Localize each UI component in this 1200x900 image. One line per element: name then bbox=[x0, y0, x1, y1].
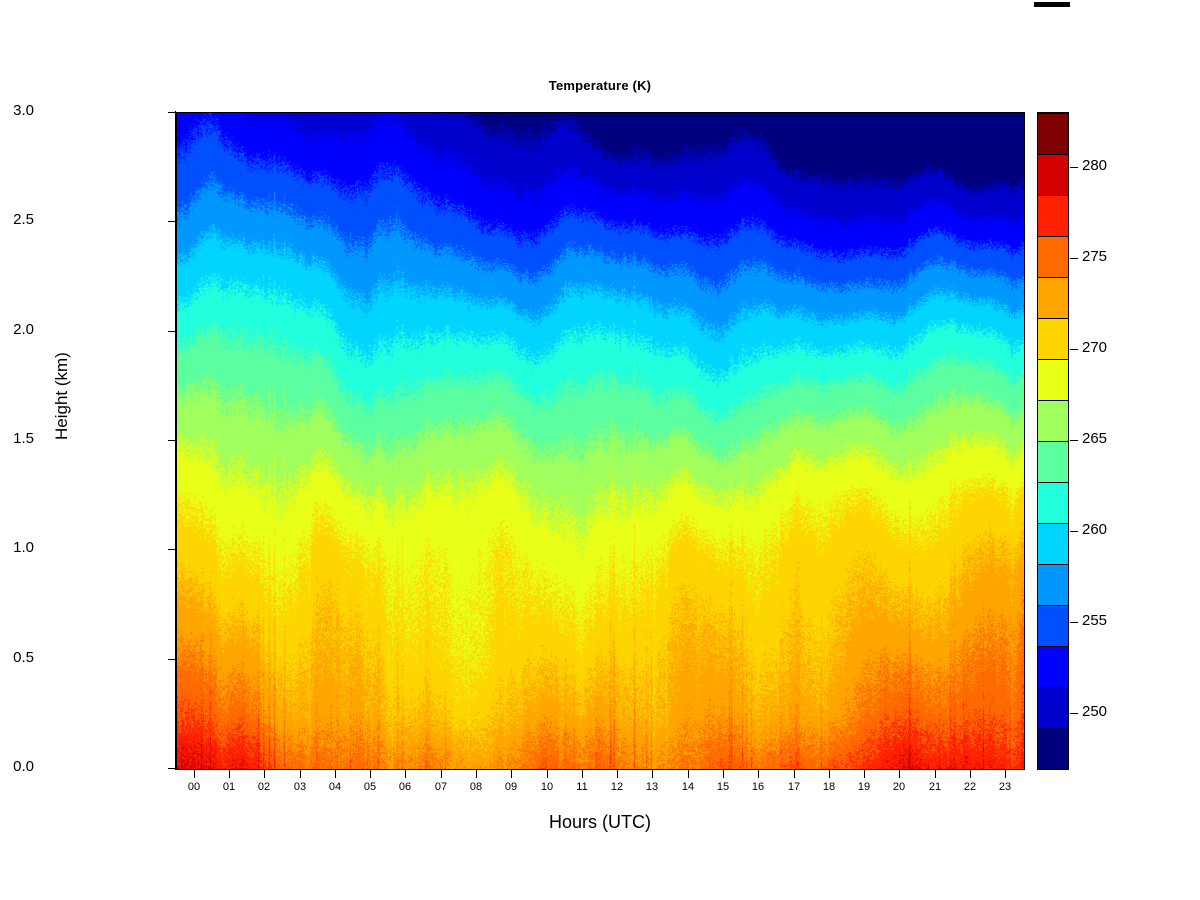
x-tick-label: 20 bbox=[879, 781, 919, 793]
colorbar-block bbox=[1038, 400, 1068, 441]
x-tick-mark bbox=[441, 770, 442, 778]
x-tick-mark bbox=[1005, 770, 1006, 778]
x-tick-label: 21 bbox=[915, 781, 955, 793]
colorbar-block bbox=[1038, 318, 1068, 359]
colorbar-block bbox=[1038, 236, 1068, 277]
colorbar-block bbox=[1038, 687, 1068, 728]
x-tick-label: 00 bbox=[174, 781, 214, 793]
x-tick-mark bbox=[476, 770, 477, 778]
x-tick-mark bbox=[652, 770, 653, 778]
x-tick-mark bbox=[335, 770, 336, 778]
colorbar-block bbox=[1038, 482, 1068, 523]
x-tick-label: 02 bbox=[244, 781, 284, 793]
y-tick-mark bbox=[168, 331, 176, 332]
x-tick-mark bbox=[405, 770, 406, 778]
x-tick-label: 04 bbox=[315, 781, 355, 793]
y-tick-label: 3.0 bbox=[13, 102, 34, 119]
figure-canvas: Temperature (K) 0.00.51.01.52.02.53.0 00… bbox=[0, 0, 1200, 900]
y-tick-label: 0.5 bbox=[13, 649, 34, 666]
x-tick-mark bbox=[688, 770, 689, 778]
y-tick-mark bbox=[168, 549, 176, 550]
colorbar-tick-label: 265 bbox=[1082, 430, 1107, 447]
x-tick-mark bbox=[194, 770, 195, 778]
plot-title: Temperature (K) bbox=[0, 78, 1200, 93]
colorbar-tick-mark bbox=[1070, 258, 1078, 259]
x-tick-mark bbox=[829, 770, 830, 778]
colorbar-block bbox=[1038, 154, 1068, 195]
x-tick-mark bbox=[511, 770, 512, 778]
x-tick-mark bbox=[617, 770, 618, 778]
x-tick-label: 14 bbox=[668, 781, 708, 793]
plot-area bbox=[176, 112, 1025, 770]
colorbar-block bbox=[1038, 359, 1068, 400]
colorbar-block bbox=[1038, 113, 1068, 154]
colorbar-tick-mark bbox=[1070, 167, 1078, 168]
x-tick-label: 10 bbox=[527, 781, 567, 793]
x-tick-label: 09 bbox=[491, 781, 531, 793]
x-tick-label: 07 bbox=[421, 781, 461, 793]
colorbar-block bbox=[1038, 523, 1068, 564]
x-tick-label: 03 bbox=[280, 781, 320, 793]
colorbar-block bbox=[1038, 441, 1068, 482]
x-tick-label: 16 bbox=[738, 781, 778, 793]
x-tick-mark bbox=[935, 770, 936, 778]
x-tick-label: 08 bbox=[456, 781, 496, 793]
y-tick-label: 1.5 bbox=[13, 430, 34, 447]
colorbar-tick-label: 275 bbox=[1082, 248, 1107, 265]
colorbar-tick-mark bbox=[1070, 531, 1078, 532]
colorbar-block bbox=[1038, 277, 1068, 318]
y-tick-mark bbox=[168, 768, 176, 769]
y-tick-label: 1.0 bbox=[13, 539, 34, 556]
colorbar-tick-mark bbox=[1070, 713, 1078, 714]
x-tick-mark bbox=[300, 770, 301, 778]
colorbar-tick-mark bbox=[1070, 622, 1078, 623]
y-tick-mark bbox=[168, 440, 176, 441]
x-tick-label: 15 bbox=[703, 781, 743, 793]
x-tick-label: 22 bbox=[950, 781, 990, 793]
x-axis-title: Hours (UTC) bbox=[0, 812, 1200, 833]
x-tick-mark bbox=[970, 770, 971, 778]
x-tick-mark bbox=[758, 770, 759, 778]
x-tick-mark bbox=[547, 770, 548, 778]
y-tick-mark bbox=[168, 112, 176, 113]
x-tick-mark bbox=[864, 770, 865, 778]
colorbar-tick-mark bbox=[1070, 349, 1078, 350]
y-tick-label: 2.0 bbox=[13, 321, 34, 338]
x-tick-mark bbox=[723, 770, 724, 778]
x-tick-label: 18 bbox=[809, 781, 849, 793]
colorbar-block bbox=[1038, 195, 1068, 236]
x-tick-mark bbox=[264, 770, 265, 778]
x-tick-label: 13 bbox=[632, 781, 672, 793]
colorbar-tick-label: 250 bbox=[1082, 703, 1107, 720]
x-tick-label: 05 bbox=[350, 781, 390, 793]
y-tick-label: 0.0 bbox=[13, 758, 34, 775]
x-tick-mark bbox=[899, 770, 900, 778]
y-axis-title: Height (km) bbox=[52, 352, 72, 440]
x-tick-mark bbox=[794, 770, 795, 778]
temperature-field-heatmap bbox=[177, 113, 1024, 769]
x-tick-mark bbox=[370, 770, 371, 778]
x-tick-label: 17 bbox=[774, 781, 814, 793]
colorbar-tick-label: 270 bbox=[1082, 339, 1107, 356]
x-tick-label: 19 bbox=[844, 781, 884, 793]
colorbar-block bbox=[1038, 605, 1068, 646]
y-tick-mark bbox=[168, 221, 176, 222]
colorbar-tick-label: 280 bbox=[1082, 157, 1107, 174]
x-tick-label: 12 bbox=[597, 781, 637, 793]
x-tick-mark bbox=[582, 770, 583, 778]
colorbar-tick-label: 260 bbox=[1082, 521, 1107, 538]
x-tick-label: 06 bbox=[385, 781, 425, 793]
top-edge-artifact bbox=[1034, 2, 1070, 7]
x-tick-mark bbox=[229, 770, 230, 778]
x-tick-label: 23 bbox=[985, 781, 1025, 793]
x-tick-label: 11 bbox=[562, 781, 602, 793]
colorbar bbox=[1037, 112, 1069, 770]
y-tick-mark bbox=[168, 659, 176, 660]
colorbar-block bbox=[1038, 646, 1068, 687]
colorbar-tick-mark bbox=[1070, 440, 1078, 441]
x-tick-label: 01 bbox=[209, 781, 249, 793]
colorbar-tick-label: 255 bbox=[1082, 612, 1107, 629]
colorbar-block bbox=[1038, 728, 1068, 769]
y-tick-label: 2.5 bbox=[13, 211, 34, 228]
colorbar-block bbox=[1038, 564, 1068, 605]
x-axis-line bbox=[175, 769, 1025, 770]
